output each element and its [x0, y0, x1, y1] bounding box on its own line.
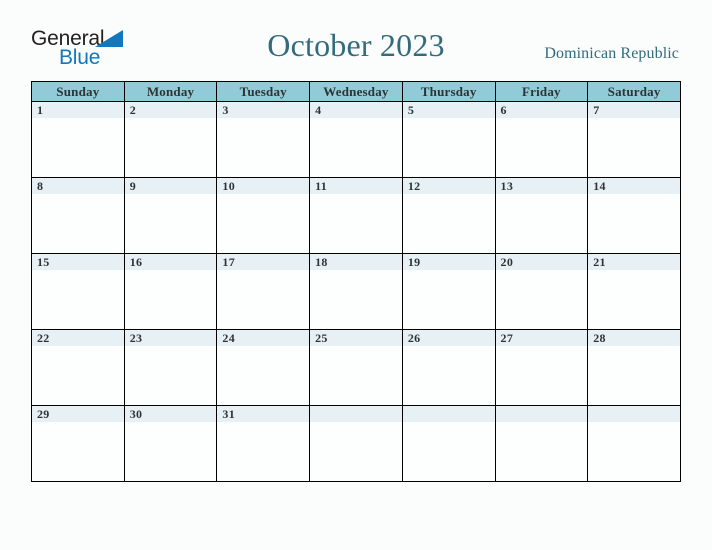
day-number: 13: [496, 178, 588, 194]
calendar-day-cell[interactable]: 31: [217, 406, 310, 482]
day-cell-body[interactable]: [32, 194, 124, 253]
day-cell-body[interactable]: [125, 422, 217, 481]
day-cell-body[interactable]: [217, 422, 309, 481]
calendar-week-row: 29 30 31: [32, 406, 681, 482]
calendar-day-cell[interactable]: 14: [588, 178, 681, 254]
day-number: 17: [217, 254, 309, 270]
calendar-day-cell[interactable]: 15: [32, 254, 125, 330]
calendar-day-cell[interactable]: 6: [495, 102, 588, 178]
calendar-day-cell[interactable]: 28: [588, 330, 681, 406]
calendar-day-cell[interactable]: 10: [217, 178, 310, 254]
day-cell-body[interactable]: [588, 118, 680, 177]
page-header: General Blue October 2023 Dominican Repu…: [0, 0, 712, 80]
day-cell-body[interactable]: [125, 270, 217, 329]
country-label: Dominican Republic: [544, 45, 679, 63]
calendar-day-cell[interactable]: 19: [402, 254, 495, 330]
calendar-day-cell[interactable]: 24: [217, 330, 310, 406]
calendar-day-cell-empty[interactable]: [588, 406, 681, 482]
weekday-header-wednesday: Wednesday: [310, 82, 403, 102]
day-cell-body[interactable]: [403, 270, 495, 329]
calendar-day-cell[interactable]: 30: [124, 406, 217, 482]
day-number: 4: [310, 102, 402, 118]
calendar-day-cell-empty[interactable]: [402, 406, 495, 482]
day-cell-body[interactable]: [310, 346, 402, 405]
day-number: [496, 406, 588, 422]
day-number: 16: [125, 254, 217, 270]
day-cell-body[interactable]: [32, 118, 124, 177]
calendar-week-row: 15 16 17 18 19 20 21: [32, 254, 681, 330]
calendar-day-cell[interactable]: 21: [588, 254, 681, 330]
day-cell-body[interactable]: [32, 270, 124, 329]
day-cell-body[interactable]: [310, 422, 402, 481]
day-cell-body[interactable]: [217, 346, 309, 405]
day-cell-body[interactable]: [588, 346, 680, 405]
day-cell-body[interactable]: [310, 118, 402, 177]
day-number: 8: [32, 178, 124, 194]
weekday-header-friday: Friday: [495, 82, 588, 102]
day-number: 14: [588, 178, 680, 194]
calendar-day-cell[interactable]: 11: [310, 178, 403, 254]
day-number: 6: [496, 102, 588, 118]
day-cell-body[interactable]: [403, 194, 495, 253]
day-number: 24: [217, 330, 309, 346]
day-number: 29: [32, 406, 124, 422]
day-number: 28: [588, 330, 680, 346]
day-number: 27: [496, 330, 588, 346]
calendar-day-cell[interactable]: 12: [402, 178, 495, 254]
day-number: 21: [588, 254, 680, 270]
weekday-header-thursday: Thursday: [402, 82, 495, 102]
day-number: 7: [588, 102, 680, 118]
day-cell-body[interactable]: [125, 194, 217, 253]
calendar-day-cell[interactable]: 18: [310, 254, 403, 330]
day-number: 15: [32, 254, 124, 270]
day-number: 12: [403, 178, 495, 194]
day-number: [310, 406, 402, 422]
day-number: 19: [403, 254, 495, 270]
calendar-day-cell[interactable]: 9: [124, 178, 217, 254]
day-number: 30: [125, 406, 217, 422]
day-cell-body[interactable]: [496, 270, 588, 329]
calendar-day-cell[interactable]: 1: [32, 102, 125, 178]
calendar-day-cell[interactable]: 13: [495, 178, 588, 254]
calendar-day-cell[interactable]: 20: [495, 254, 588, 330]
day-cell-body[interactable]: [32, 422, 124, 481]
calendar-day-cell[interactable]: 27: [495, 330, 588, 406]
weekday-header-tuesday: Tuesday: [217, 82, 310, 102]
day-cell-body[interactable]: [125, 118, 217, 177]
day-number: 2: [125, 102, 217, 118]
calendar-week-row: 1 2 3 4 5 6 7: [32, 102, 681, 178]
day-cell-body[interactable]: [310, 270, 402, 329]
day-number: 20: [496, 254, 588, 270]
calendar-day-cell[interactable]: 22: [32, 330, 125, 406]
weekday-header-monday: Monday: [124, 82, 217, 102]
calendar-day-cell[interactable]: 3: [217, 102, 310, 178]
day-cell-body[interactable]: [588, 194, 680, 253]
day-number: [588, 406, 680, 422]
day-cell-body[interactable]: [403, 118, 495, 177]
day-number: 23: [125, 330, 217, 346]
day-cell-body[interactable]: [588, 422, 680, 481]
day-number: 11: [310, 178, 402, 194]
day-number: 9: [125, 178, 217, 194]
calendar-day-cell[interactable]: 7: [588, 102, 681, 178]
weekday-header-sunday: Sunday: [32, 82, 125, 102]
calendar-header-row: Sunday Monday Tuesday Wednesday Thursday…: [32, 82, 681, 102]
calendar-day-cell[interactable]: 5: [402, 102, 495, 178]
calendar-day-cell[interactable]: 23: [124, 330, 217, 406]
calendar-day-cell[interactable]: 2: [124, 102, 217, 178]
day-number: 25: [310, 330, 402, 346]
calendar-day-cell[interactable]: 26: [402, 330, 495, 406]
day-cell-body[interactable]: [496, 346, 588, 405]
day-number: [403, 406, 495, 422]
day-number: 3: [217, 102, 309, 118]
calendar-day-cell-empty[interactable]: [310, 406, 403, 482]
calendar-day-cell[interactable]: 29: [32, 406, 125, 482]
calendar-day-cell[interactable]: 8: [32, 178, 125, 254]
day-cell-body[interactable]: [125, 346, 217, 405]
day-number: 22: [32, 330, 124, 346]
day-number: 5: [403, 102, 495, 118]
day-cell-body[interactable]: [217, 194, 309, 253]
weekday-header-saturday: Saturday: [588, 82, 681, 102]
day-cell-body[interactable]: [496, 422, 588, 481]
day-number: 18: [310, 254, 402, 270]
day-cell-body[interactable]: [217, 270, 309, 329]
calendar-day-cell-empty[interactable]: [495, 406, 588, 482]
day-cell-body[interactable]: [217, 118, 309, 177]
calendar-week-row: 8 9 10 11 12 13 14: [32, 178, 681, 254]
calendar-day-cell[interactable]: 17: [217, 254, 310, 330]
calendar-week-row: 22 23 24 25 26 27 28: [32, 330, 681, 406]
day-number: 1: [32, 102, 124, 118]
day-number: 31: [217, 406, 309, 422]
day-cell-body[interactable]: [403, 422, 495, 481]
day-cell-body[interactable]: [496, 118, 588, 177]
day-cell-body[interactable]: [496, 194, 588, 253]
day-cell-body[interactable]: [588, 270, 680, 329]
day-number: 26: [403, 330, 495, 346]
day-cell-body[interactable]: [32, 346, 124, 405]
calendar-day-cell[interactable]: 4: [310, 102, 403, 178]
calendar-day-cell[interactable]: 16: [124, 254, 217, 330]
calendar-day-cell[interactable]: 25: [310, 330, 403, 406]
calendar-grid: Sunday Monday Tuesday Wednesday Thursday…: [31, 81, 681, 482]
day-number: 10: [217, 178, 309, 194]
day-cell-body[interactable]: [403, 346, 495, 405]
day-cell-body[interactable]: [310, 194, 402, 253]
